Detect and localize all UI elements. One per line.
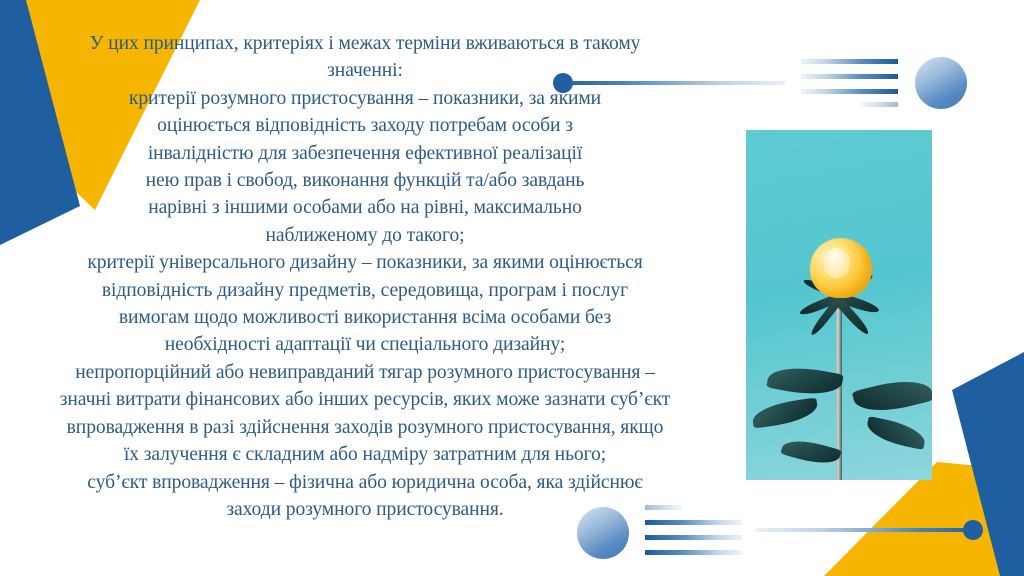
text-line: відповідність дизайну предметів, середов… [0, 277, 730, 304]
top-bar-1 [801, 59, 898, 64]
top-bar-2 [801, 74, 898, 79]
text-line: суб’єкт впровадження – фізична або юриди… [0, 469, 730, 496]
slide-body-text: У цих принципах, критеріях і межах термі… [0, 30, 730, 523]
text-line: наближеному до такого; [0, 222, 730, 249]
text-line: нею прав і свобод, виконання функцій та/… [0, 167, 730, 194]
text-line: критерії універсального дизайну – показн… [0, 249, 730, 276]
bottom-bar-4 [645, 550, 742, 555]
rose-bloom [810, 238, 872, 298]
text-line: інвалідністю для забезпечення ефективної… [0, 140, 730, 167]
bottom-bar-3 [645, 535, 742, 540]
presentation-slide: У цих принципах, критеріях і межах термі… [0, 0, 1024, 576]
text-line: нарівні з іншими особами або на рівні, м… [0, 194, 730, 221]
bottom-rule-dot [963, 520, 983, 540]
text-line: непропорційний або невиправданий тягар р… [0, 359, 730, 386]
text-line: оцінюється відповідність заходу потребам… [0, 112, 730, 139]
text-line: значенні: [0, 57, 730, 84]
text-line: необхідності адаптації чи спеціального д… [0, 331, 730, 358]
rose-photo [746, 130, 932, 480]
text-line: впровадження в разі здійснення заходів р… [0, 414, 730, 441]
text-line: заходи розумного пристосування. [0, 496, 730, 523]
top-bar-3 [801, 89, 898, 94]
text-line: У цих принципах, критеріях і межах термі… [0, 30, 730, 57]
text-line: значні витрати фінансових або інших ресу… [0, 386, 730, 413]
bottom-right-blue-wedge [952, 352, 1024, 576]
bottom-rule-line [756, 528, 971, 532]
text-line: вимогам щодо можливості використання всі… [0, 304, 730, 331]
text-line: критерії розумного пристосування – показ… [0, 85, 730, 112]
top-bar-4 [861, 102, 898, 107]
top-gradient-circle [915, 57, 967, 109]
text-line: їх залучення є складним або надміру затр… [0, 441, 730, 468]
